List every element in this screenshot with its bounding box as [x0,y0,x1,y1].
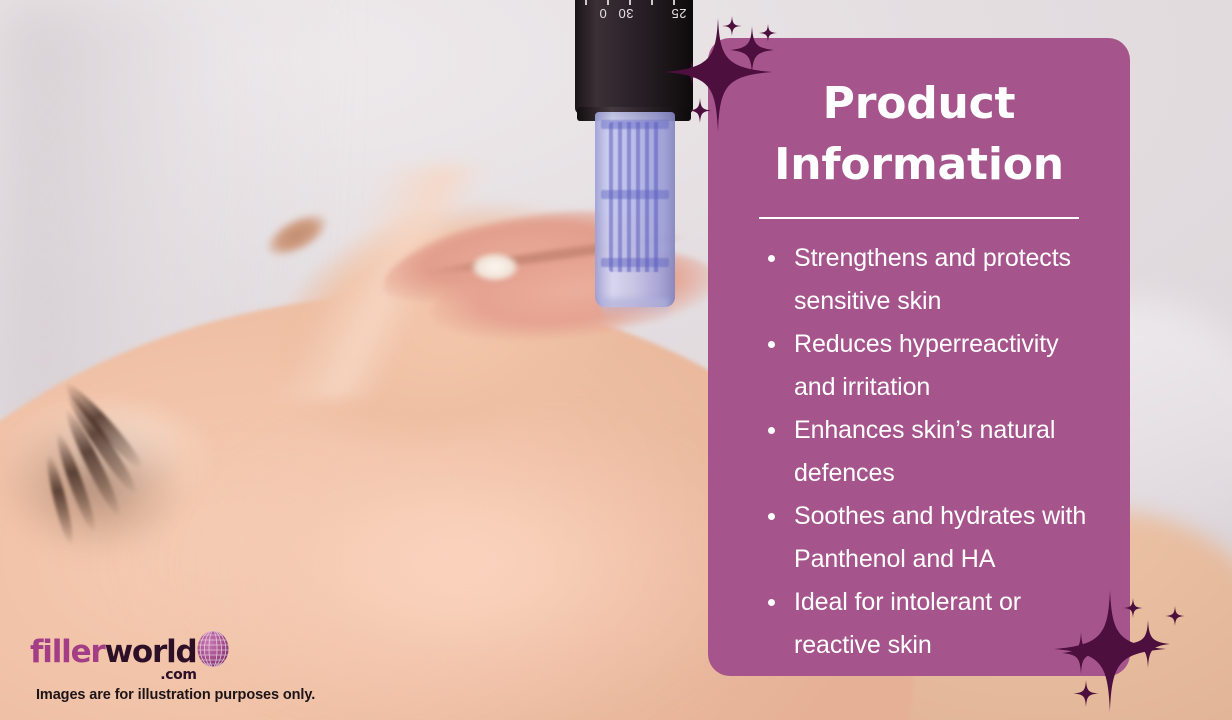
page-title: Product Information [738,74,1100,195]
promo-canvas: 0 30 25 [0,0,1232,720]
pen-dial-label: 25 [671,6,686,21]
pen-depth-dial: 0 30 25 [575,0,693,28]
cartridge-band [601,190,669,199]
title-divider [759,217,1079,219]
list-item: Reduces hyperreactivity and irritation [766,323,1096,409]
brand-tld: .com [160,668,196,682]
list-item: Strengthens and protects sensitive skin [766,237,1096,323]
disclaimer-text: Images are for illustration purposes onl… [36,687,315,703]
tooth-highlight [470,252,520,282]
needle-cartridge [595,112,675,307]
brand-logo[interactable]: fillerworld .com [30,626,233,668]
panel-title-line-2: Information [774,139,1064,190]
cartridge-band [601,258,669,267]
pen-dial-label: 0 [599,6,607,21]
cartridge-tip [601,299,669,321]
panel-title-line-1: Product [823,78,1016,129]
product-information-panel: Product Information Strengthens and prot… [708,38,1130,676]
pen-dial-label: 30 [618,6,633,21]
product-benefits-list: Strengthens and protects sensitive skin … [738,237,1100,667]
list-item: Soothes and hydrates with Panthenol and … [766,495,1096,581]
globe-icon [193,626,233,670]
brand-name-primary: filler [30,634,104,670]
microneedling-pen: 0 30 25 [575,0,693,114]
brand-name-secondary: world [104,634,196,670]
list-item: Ideal for intolerant or reactive skin [766,581,1096,667]
brand-wordmark: fillerworld .com [30,637,197,668]
list-item: Enhances skin’s natural defences [766,409,1096,495]
pen-body: 0 30 25 [575,0,693,114]
cartridge-band [601,120,669,129]
